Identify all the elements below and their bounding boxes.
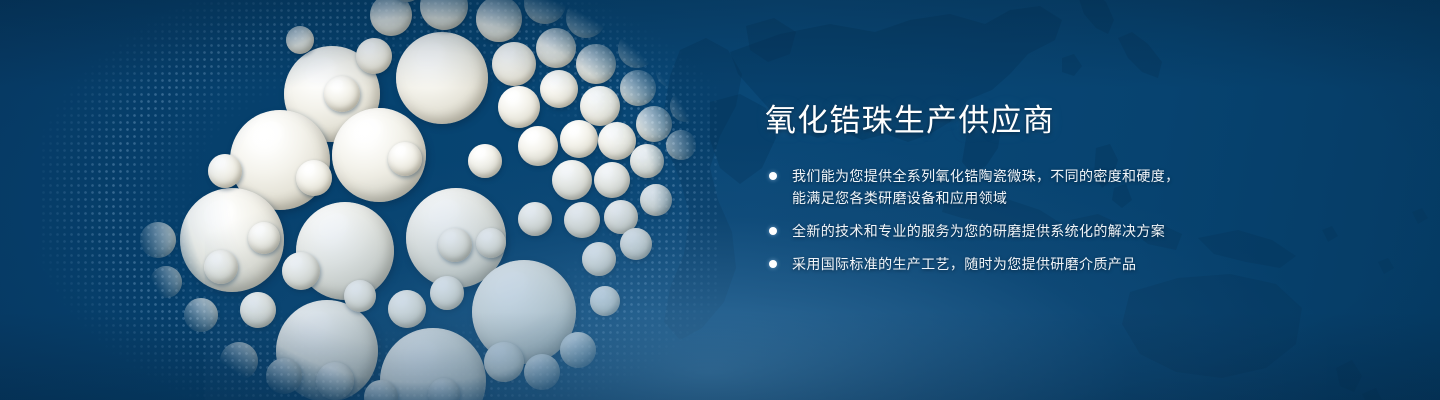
- bullet-line-1: 采用国际标准的生产工艺，随时为您提供研磨介质产品: [792, 253, 1235, 275]
- hero-banner: 氧化锆珠生产供应商 我们能为您提供全系列氧化锆陶瓷微珠，不同的密度和硬度， 能满…: [0, 0, 1440, 400]
- bullet-item: 全新的技术和专业的服务为您的研磨提供系统化的解决方案: [765, 220, 1235, 242]
- bullet-dot-icon: [769, 227, 777, 235]
- banner-bullet-list: 我们能为您提供全系列氧化锆陶瓷微珠，不同的密度和硬度， 能满足您各类研磨设备和应…: [765, 165, 1235, 275]
- bullet-line-2: 能满足您各类研磨设备和应用领域: [792, 187, 1235, 209]
- banner-headline: 氧化锆珠生产供应商: [765, 104, 1235, 139]
- bullet-dot-icon: [769, 260, 777, 268]
- bullet-item: 我们能为您提供全系列氧化锆陶瓷微珠，不同的密度和硬度， 能满足您各类研磨设备和应…: [765, 165, 1235, 209]
- bullet-line-1: 我们能为您提供全系列氧化锆陶瓷微珠，不同的密度和硬度，: [792, 165, 1235, 187]
- bullet-dot-icon: [769, 172, 777, 180]
- banner-copy: 氧化锆珠生产供应商 我们能为您提供全系列氧化锆陶瓷微珠，不同的密度和硬度， 能满…: [765, 104, 1235, 275]
- bullet-line-1: 全新的技术和专业的服务为您的研磨提供系统化的解决方案: [792, 220, 1235, 242]
- bullet-item: 采用国际标准的生产工艺，随时为您提供研磨介质产品: [765, 253, 1235, 275]
